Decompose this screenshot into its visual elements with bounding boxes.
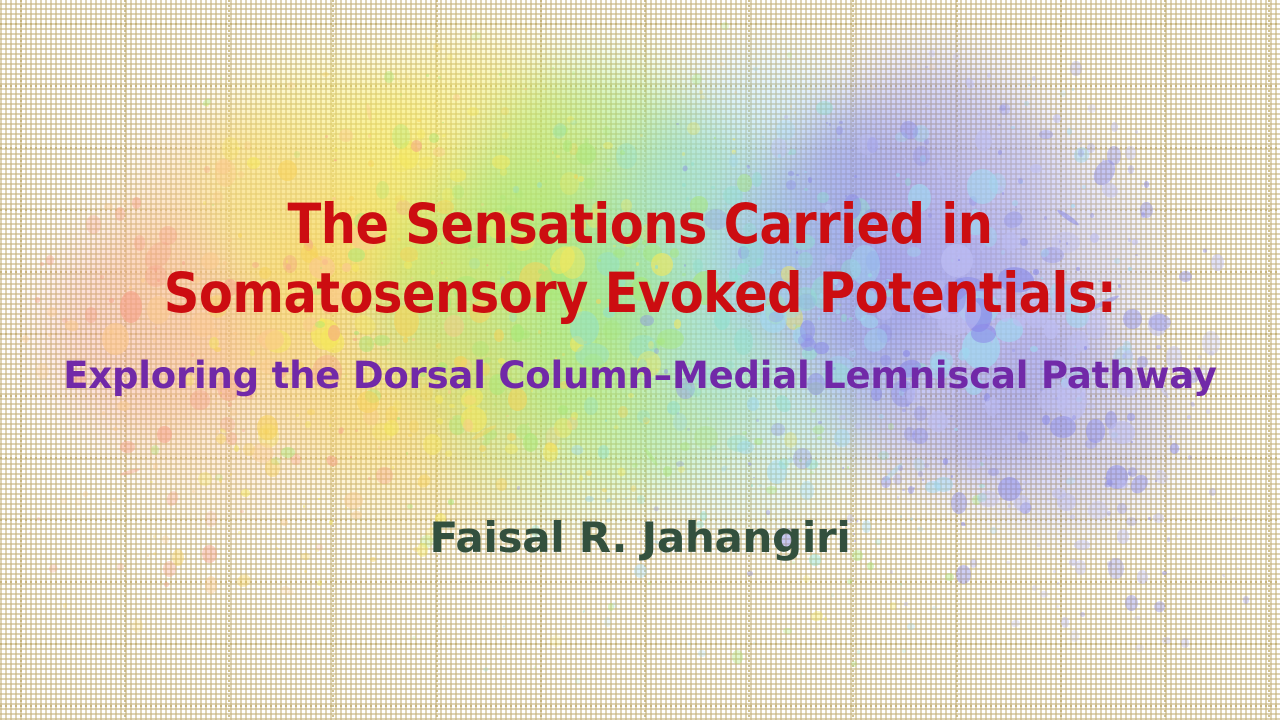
slide-subtitle: Exploring the Dorsal Column–Medial Lemni… — [0, 357, 1280, 394]
title-line-2: Somatosensory Evoked Potentials: — [0, 266, 1280, 321]
title-slide: The Sensations Carried in Somatosensory … — [0, 0, 1280, 720]
title-line-1: The Sensations Carried in — [0, 197, 1280, 252]
author-name: Faisal R. Jahangiri — [0, 517, 1280, 559]
slide-text: The Sensations Carried in Somatosensory … — [0, 0, 1280, 720]
